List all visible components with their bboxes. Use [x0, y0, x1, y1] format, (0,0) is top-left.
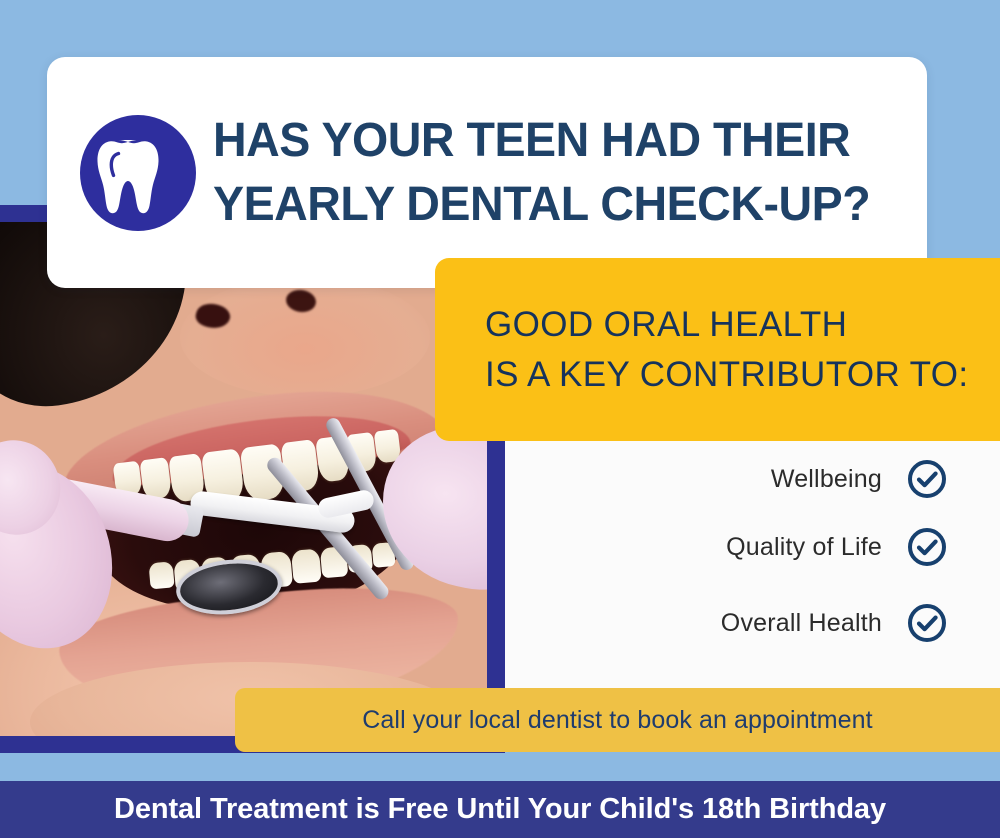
oral-health-banner: GOOD ORAL HEALTH IS A KEY CONTRIBUTOR TO… [435, 258, 1000, 441]
benefits-panel: Wellbeing Quality of Life Overall Health [505, 441, 1000, 689]
tooth-icon [77, 112, 199, 234]
call-to-action-band[interactable]: Call your local dentist to book an appoi… [235, 688, 1000, 752]
benefit-label-quality-of-life: Quality of Life [726, 533, 882, 562]
list-item: Overall Health [721, 602, 948, 644]
benefit-label-wellbeing: Wellbeing [771, 465, 882, 494]
list-item: Wellbeing [771, 458, 948, 500]
check-circle-icon [906, 526, 948, 568]
dental-examination-photo [0, 222, 487, 737]
page-title: HAS YOUR TEEN HAD THEIR YEARLY DENTAL CH… [213, 109, 901, 237]
bottom-banner-text: Dental Treatment is Free Until Your Chil… [114, 793, 886, 826]
headline-line-2: YEARLY DENTAL CHECK-UP? [213, 173, 880, 237]
list-item: Quality of Life [726, 526, 948, 568]
banner-line-1: GOOD ORAL HEALTH [485, 300, 960, 350]
benefit-label-overall-health: Overall Health [721, 609, 882, 638]
check-circle-icon [906, 458, 948, 500]
bottom-banner: Dental Treatment is Free Until Your Chil… [0, 781, 1000, 838]
headline-line-1: HAS YOUR TEEN HAD THEIR [213, 109, 880, 173]
headline-card: HAS YOUR TEEN HAD THEIR YEARLY DENTAL CH… [47, 57, 927, 288]
dental-checkup-poster: HAS YOUR TEEN HAD THEIR YEARLY DENTAL CH… [0, 0, 1000, 838]
banner-line-2: IS A KEY CONTRIBUTOR TO: [485, 350, 960, 400]
check-circle-icon [906, 602, 948, 644]
cta-text: Call your local dentist to book an appoi… [362, 706, 872, 735]
